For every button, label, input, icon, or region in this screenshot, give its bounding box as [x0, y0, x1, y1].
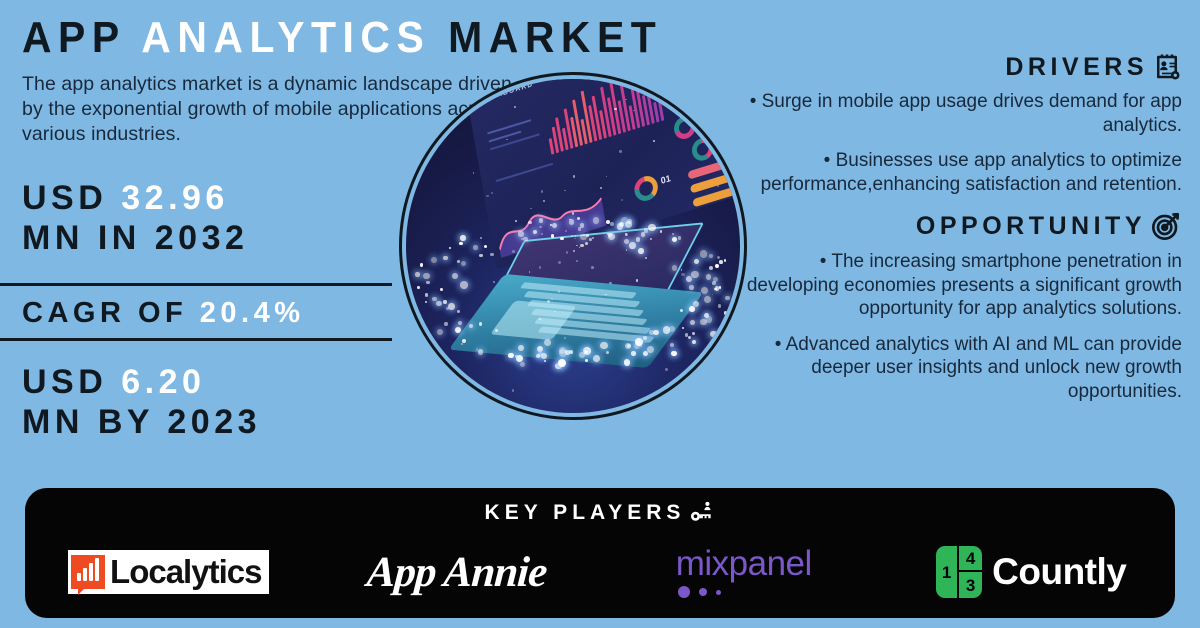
glow-node — [648, 224, 656, 232]
opportunity-item: • Advanced analytics with AI and ML can … — [732, 333, 1182, 404]
glow-node — [473, 245, 478, 250]
star-dot — [574, 238, 576, 240]
star-dot — [573, 175, 576, 178]
player-logos-row: Localytics App Annie mixpanel 1 — [25, 536, 1175, 608]
glow-node — [533, 230, 537, 234]
glow-node — [714, 288, 717, 291]
glow-node — [539, 218, 544, 223]
glow-node — [457, 310, 460, 313]
analytics-dashboard-artwork: DASHBOARD — [406, 79, 740, 413]
localytics-logo[interactable]: Localytics — [68, 550, 269, 594]
glow-node — [709, 254, 713, 258]
stat-cagr-prefix: CAGR OF — [22, 297, 187, 329]
key-players-footer: KEY PLAYERS Localytics App Annie — [25, 488, 1175, 618]
glow-node — [528, 221, 532, 225]
glow-node — [479, 322, 483, 326]
glow-node — [631, 351, 636, 356]
glow-node — [518, 231, 523, 236]
dashboard-bar-chart — [541, 79, 676, 155]
glow-node — [437, 329, 443, 335]
right-column: DRIVERS • Surge in mobile app usage driv… — [732, 52, 1182, 415]
star-dot — [446, 307, 449, 310]
dashboard-mini-line — [487, 119, 531, 134]
counter-digits-icon: 1 4 3 — [936, 546, 982, 598]
glow-node — [653, 330, 659, 336]
glow-node — [606, 351, 609, 354]
star-dot — [491, 192, 493, 194]
glow-node — [431, 257, 437, 263]
glow-node — [700, 250, 708, 258]
hero-illustration: DASHBOARD — [399, 72, 747, 420]
stat-base-line1: USD 6.20 — [22, 362, 261, 402]
glow-node — [701, 287, 708, 294]
glow-node — [565, 350, 570, 355]
glow-node — [715, 264, 719, 268]
dashboard-donut — [633, 173, 660, 204]
glow-node — [690, 320, 695, 325]
title-part-3: MARKET — [448, 13, 662, 62]
glow-node — [689, 306, 695, 312]
stat-forecast-line1: USD 32.96 — [22, 178, 248, 218]
glow-node — [423, 273, 429, 279]
opportunity-list: • The increasing smartphone penetration … — [732, 250, 1182, 403]
star-dot — [681, 269, 682, 270]
opportunity-item: • The increasing smartphone penetration … — [732, 250, 1182, 321]
star-dot — [543, 200, 545, 202]
glow-node — [600, 342, 607, 349]
star-dot — [473, 172, 474, 173]
drivers-heading: DRIVERS — [732, 52, 1182, 82]
glow-node — [692, 332, 695, 335]
glow-node — [479, 254, 482, 257]
glow-node — [578, 227, 581, 230]
star-dot — [558, 290, 560, 292]
glow-node — [444, 322, 447, 325]
glow-node — [520, 362, 525, 367]
star-dot — [571, 235, 572, 236]
divider-bottom — [0, 338, 392, 341]
glow-node — [706, 274, 712, 280]
glow-node — [672, 237, 677, 242]
star-dot — [605, 294, 607, 296]
countly-logo[interactable]: 1 4 3 Countly — [936, 546, 1126, 598]
stat-forecast-suffix: MN IN 2032 — [22, 218, 248, 258]
star-dot — [490, 253, 493, 256]
star-dot — [585, 242, 588, 245]
countly-digit-4: 4 — [959, 546, 982, 572]
star-dot — [636, 279, 638, 281]
glow-node — [704, 296, 711, 303]
star-dot — [653, 140, 655, 142]
dashboard-mini-line — [490, 133, 540, 150]
localytics-wordmark: Localytics — [110, 553, 261, 591]
dashboard-mini-line — [495, 163, 553, 183]
glow-node — [425, 293, 428, 296]
glow-node — [580, 234, 586, 240]
laptop-illustration — [464, 231, 702, 381]
clipboard-settings-icon — [1152, 52, 1182, 82]
glow-node — [523, 237, 527, 241]
stat-cagr: CAGR OF 20.4% — [22, 296, 305, 330]
key-players-heading: KEY PLAYERS — [25, 500, 1175, 526]
glow-node — [455, 327, 461, 333]
bar-chart-bubble-icon — [71, 555, 105, 589]
dashboard-donut — [671, 79, 698, 100]
glow-node — [420, 263, 424, 267]
star-dot — [660, 230, 663, 233]
dashboard-donut-index: 01 — [660, 173, 671, 186]
star-dot — [607, 233, 609, 235]
glow-node — [417, 286, 420, 289]
player-localytics[interactable]: Localytics — [25, 550, 313, 594]
star-dot — [554, 311, 555, 312]
page-title: APP ANALYTICS MARKET — [22, 16, 662, 60]
opportunity-heading: OPPORTUNITY — [732, 210, 1182, 242]
key-person-icon — [689, 500, 715, 526]
star-dot — [539, 318, 541, 320]
player-mixpanel[interactable]: mixpanel — [600, 546, 888, 598]
glow-node — [719, 286, 721, 288]
glow-node — [663, 326, 671, 334]
dashboard-donut-index: 04 — [716, 135, 727, 148]
glow-node — [678, 236, 682, 240]
stat-forecast-prefix: USD — [22, 179, 107, 217]
key-players-heading-text: KEY PLAYERS — [485, 501, 686, 525]
glow-node — [448, 303, 455, 310]
glow-node — [560, 237, 564, 241]
glow-node — [629, 242, 635, 248]
star-dot — [457, 260, 460, 263]
star-dot — [541, 233, 543, 235]
glow-node — [718, 304, 721, 307]
stat-forecast: USD 32.96 MN IN 2032 — [22, 178, 248, 258]
stat-forecast-value: 32.96 — [121, 179, 229, 217]
drivers-list: • Surge in mobile app usage drives deman… — [732, 90, 1182, 196]
glow-node — [425, 301, 427, 303]
stat-base-prefix: USD — [22, 363, 107, 401]
three-dots-icon — [676, 586, 812, 598]
mixpanel-wordmark: mixpanel — [676, 546, 812, 581]
countly-digit-3: 3 — [959, 572, 982, 598]
glow-node — [691, 271, 699, 279]
glow-node — [624, 239, 629, 244]
dashboard-donut-index: 03 — [698, 113, 709, 126]
glow-node — [700, 319, 706, 325]
glow-node — [459, 242, 462, 245]
dashboard-donut-index: 01 — [698, 79, 709, 82]
drivers-heading-text: DRIVERS — [1005, 53, 1148, 82]
glow-node — [724, 311, 728, 315]
glow-node — [544, 360, 546, 362]
glow-node — [443, 300, 446, 303]
star-dot — [569, 219, 570, 220]
star-dot — [614, 108, 617, 111]
countly-wordmark: Countly — [992, 551, 1126, 593]
glow-node — [724, 259, 726, 261]
star-dot — [512, 389, 514, 391]
stat-cagr-value: 20.4% — [200, 297, 305, 329]
player-app-annie[interactable]: App Annie — [313, 548, 601, 597]
star-dot — [614, 237, 615, 238]
star-dot — [564, 190, 566, 192]
glow-node — [460, 281, 468, 289]
glow-node — [610, 222, 614, 226]
dashboard-donut — [690, 135, 715, 163]
stat-cagr-line: CAGR OF 20.4% — [22, 296, 305, 330]
glow-node — [452, 273, 458, 279]
glow-node — [449, 247, 451, 249]
stat-base: USD 6.20 MN BY 2023 — [22, 362, 261, 442]
star-dot — [576, 260, 578, 262]
glow-node — [709, 266, 713, 270]
glow-node — [460, 235, 465, 240]
title-part-1: APP — [22, 13, 125, 62]
glow-node — [462, 339, 466, 343]
drivers-item: • Surge in mobile app usage drives deman… — [732, 90, 1182, 137]
title-part-2: ANALYTICS — [141, 13, 430, 62]
drivers-item: • Businesses use app analytics to optimi… — [732, 149, 1182, 196]
glow-node — [686, 276, 692, 282]
laptop-keyboard — [449, 274, 704, 368]
dashboard-donut-index: 02 — [713, 94, 724, 107]
glow-node — [569, 219, 575, 225]
star-dot — [717, 256, 720, 259]
star-dot — [592, 237, 594, 239]
glow-node — [710, 331, 717, 338]
star-dot — [539, 226, 542, 229]
star-dot — [633, 110, 635, 112]
glow-node — [458, 321, 462, 325]
app-annie-wordmark: App Annie — [365, 548, 548, 597]
glow-node — [682, 327, 684, 329]
glow-node — [593, 355, 600, 362]
glow-node — [672, 233, 674, 235]
glow-node — [719, 260, 722, 263]
glow-node — [508, 353, 513, 358]
star-dot — [476, 348, 478, 350]
countly-digit-1: 1 — [936, 546, 959, 598]
stat-base-value: 6.20 — [121, 363, 205, 401]
glow-node — [443, 256, 448, 261]
glow-node — [636, 237, 641, 242]
player-countly[interactable]: 1 4 3 Countly — [888, 546, 1176, 598]
glow-node — [585, 359, 588, 362]
glow-node — [647, 346, 654, 353]
opportunity-heading-text: OPPORTUNITY — [916, 212, 1146, 241]
star-dot — [566, 251, 569, 254]
glow-node — [689, 285, 694, 290]
star-dot — [591, 266, 594, 269]
glow-node — [713, 277, 718, 282]
glow-node — [541, 353, 547, 359]
star-dot — [712, 294, 713, 295]
glow-node — [440, 288, 443, 291]
glow-node — [426, 281, 429, 284]
mixpanel-logo[interactable]: mixpanel — [676, 546, 812, 598]
glow-node — [725, 296, 729, 300]
glow-node — [415, 272, 419, 276]
target-arrow-icon — [1150, 210, 1182, 242]
stat-base-suffix: MN BY 2023 — [22, 402, 261, 442]
glow-node — [551, 234, 554, 237]
star-dot — [541, 190, 544, 193]
glow-node — [672, 265, 677, 270]
glow-node — [638, 248, 644, 254]
star-dot — [580, 244, 583, 247]
glow-node — [436, 301, 441, 306]
star-dot — [486, 195, 488, 197]
divider-top — [0, 283, 392, 286]
